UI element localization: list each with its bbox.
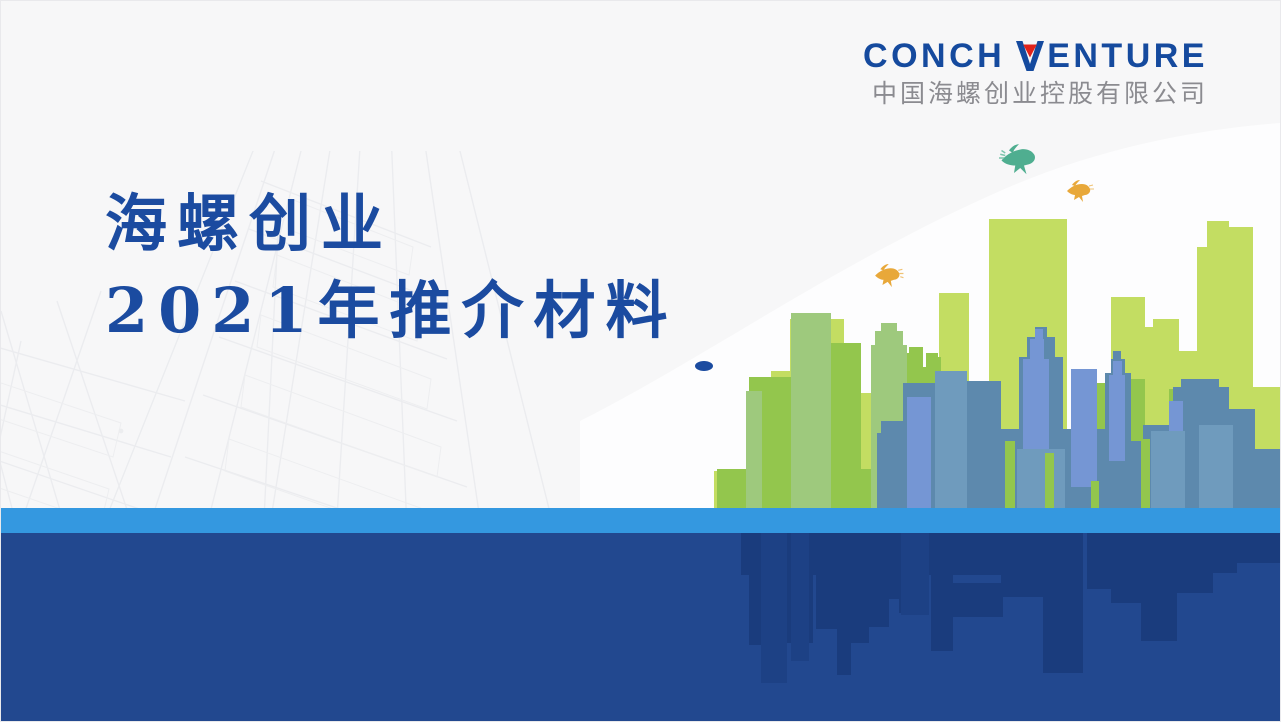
background-arc-shape <box>580 121 1280 521</box>
dove-orange-right-icon <box>1067 180 1094 202</box>
skyline-green-soft <box>746 313 907 511</box>
skyline-green-slivers <box>1005 439 1150 511</box>
skyline-blue-slate <box>877 327 1281 511</box>
skyline-reflection <box>1 533 1280 721</box>
dove-teal-icon <box>999 144 1035 174</box>
conch-venture-logo: CONCH ENTURE 中国海螺创业控股有限公司 <box>863 39 1208 107</box>
title-line-1: 海螺创业 <box>105 189 678 258</box>
dove-orange-left-icon <box>875 264 903 287</box>
presentation-slide: CONCH ENTURE 中国海螺创业控股有限公司 <box>0 0 1281 722</box>
skyline-green-mid <box>717 343 1189 511</box>
skyline-green-light <box>714 219 1281 513</box>
logo-word-venture: ENTURE <box>1047 39 1208 73</box>
page-title: 海螺创业 2021年推介材料 <box>105 189 678 346</box>
logo-word-conch: CONCH <box>863 39 1005 73</box>
title-line-2: 2021年推介材料 <box>105 276 678 345</box>
red-triangle-in-v-icon <box>1015 39 1045 73</box>
logo-wordmark: CONCH ENTURE <box>863 39 1208 73</box>
waterline-band <box>1 508 1280 533</box>
water-area <box>1 533 1280 721</box>
logo-chinese-name: 中国海螺创业控股有限公司 <box>863 82 1208 107</box>
skyline-blue-mute <box>935 371 1233 511</box>
skyline-blue-periwinkle <box>907 329 1183 509</box>
navy-dot-accent <box>695 361 713 371</box>
